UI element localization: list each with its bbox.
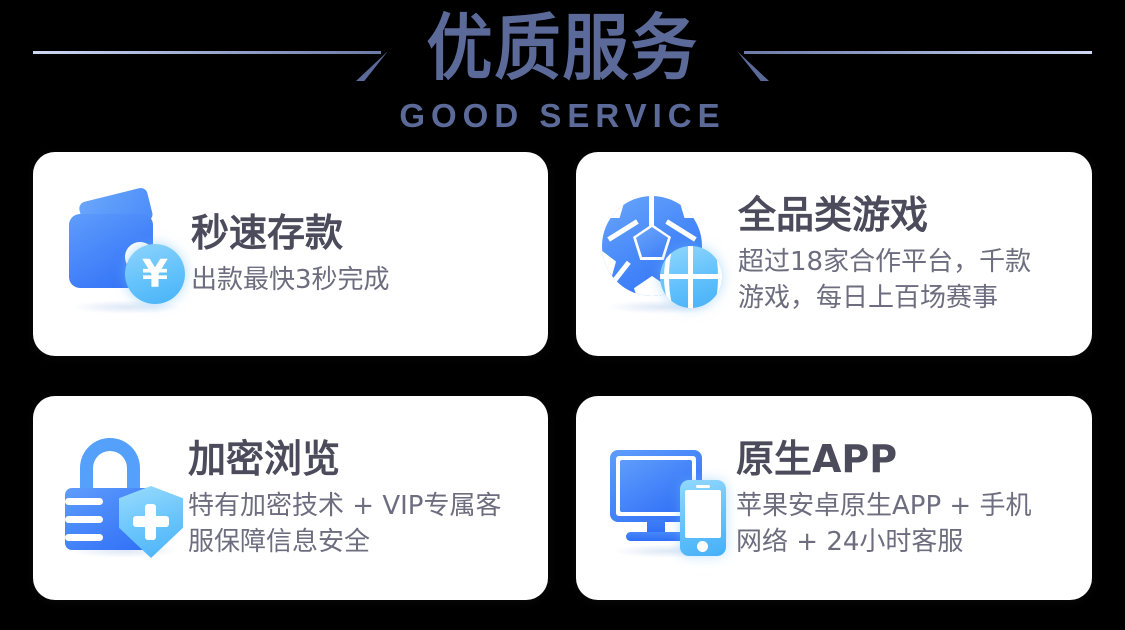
card-title: 秒速存款 <box>191 210 530 256</box>
lock-slot-icon <box>65 516 103 523</box>
plus-icon <box>145 504 156 540</box>
card-text-block: 加密浏览 特有加密技术 + VIP专属客 服保障信息安全 <box>188 436 530 560</box>
card-subtitle: 出款最快3秒完成 <box>191 262 530 298</box>
lock-slot-icon <box>65 498 103 505</box>
basketball-icon <box>660 246 722 308</box>
card-title: 原生APP <box>736 436 1074 482</box>
card-title: 全品类游戏 <box>738 192 1074 238</box>
card-subtitle-line: 超过18家合作平台，千款 <box>738 244 1074 280</box>
phone-home-button-icon <box>697 541 708 552</box>
card-subtitle: 超过18家合作平台，千款 游戏，每日上百场赛事 <box>738 244 1074 316</box>
card-subtitle-line: 出款最快3秒完成 <box>191 262 530 298</box>
card-subtitle-line: 苹果安卓原生APP + 手机 <box>736 488 1074 524</box>
page-title: 优质服务 <box>45 8 1080 88</box>
monitor-phone-icon <box>604 432 736 564</box>
feature-card-native-app[interactable]: 原生APP 苹果安卓原生APP + 手机 网络 + 24小时客服 <box>576 396 1092 600</box>
card-subtitle: 苹果安卓原生APP + 手机 网络 + 24小时客服 <box>736 488 1074 560</box>
card-text-block: 秒速存款 出款最快3秒完成 <box>191 210 530 298</box>
card-subtitle-line: 服保障信息安全 <box>188 524 530 560</box>
card-subtitle-line: 游戏，每日上百场赛事 <box>738 280 1074 316</box>
monitor-base-icon <box>626 532 686 541</box>
card-title: 加密浏览 <box>188 436 530 482</box>
wallet-yen-icon: ¥ <box>63 188 195 320</box>
card-subtitle-line: 网络 + 24小时客服 <box>736 524 1074 560</box>
feature-card-encryption[interactable]: 加密浏览 特有加密技术 + VIP专属客 服保障信息安全 <box>33 396 548 600</box>
soccer-basketball-icon <box>598 188 730 320</box>
yen-symbol-icon: ¥ <box>125 244 185 304</box>
feature-card-deposit[interactable]: ¥ 秒速存款 出款最快3秒完成 <box>33 152 548 356</box>
phone-screen-icon <box>685 490 721 538</box>
lock-slot-icon <box>65 534 103 541</box>
feature-card-games[interactable]: 全品类游戏 超过18家合作平台，千款 游戏，每日上百场赛事 <box>576 152 1092 356</box>
phone-speaker-icon <box>696 485 710 488</box>
card-text-block: 原生APP 苹果安卓原生APP + 手机 网络 + 24小时客服 <box>736 436 1074 560</box>
card-subtitle-line: 特有加密技术 + VIP专属客 <box>188 488 530 524</box>
page-header: 优质服务 GOOD SERVICE <box>0 0 1125 145</box>
card-text-block: 全品类游戏 超过18家合作平台，千款 游戏，每日上百场赛事 <box>738 192 1074 316</box>
lock-shield-icon <box>61 432 193 564</box>
page-subtitle: GOOD SERVICE <box>0 97 1125 135</box>
card-subtitle: 特有加密技术 + VIP专属客 服保障信息安全 <box>188 488 530 560</box>
